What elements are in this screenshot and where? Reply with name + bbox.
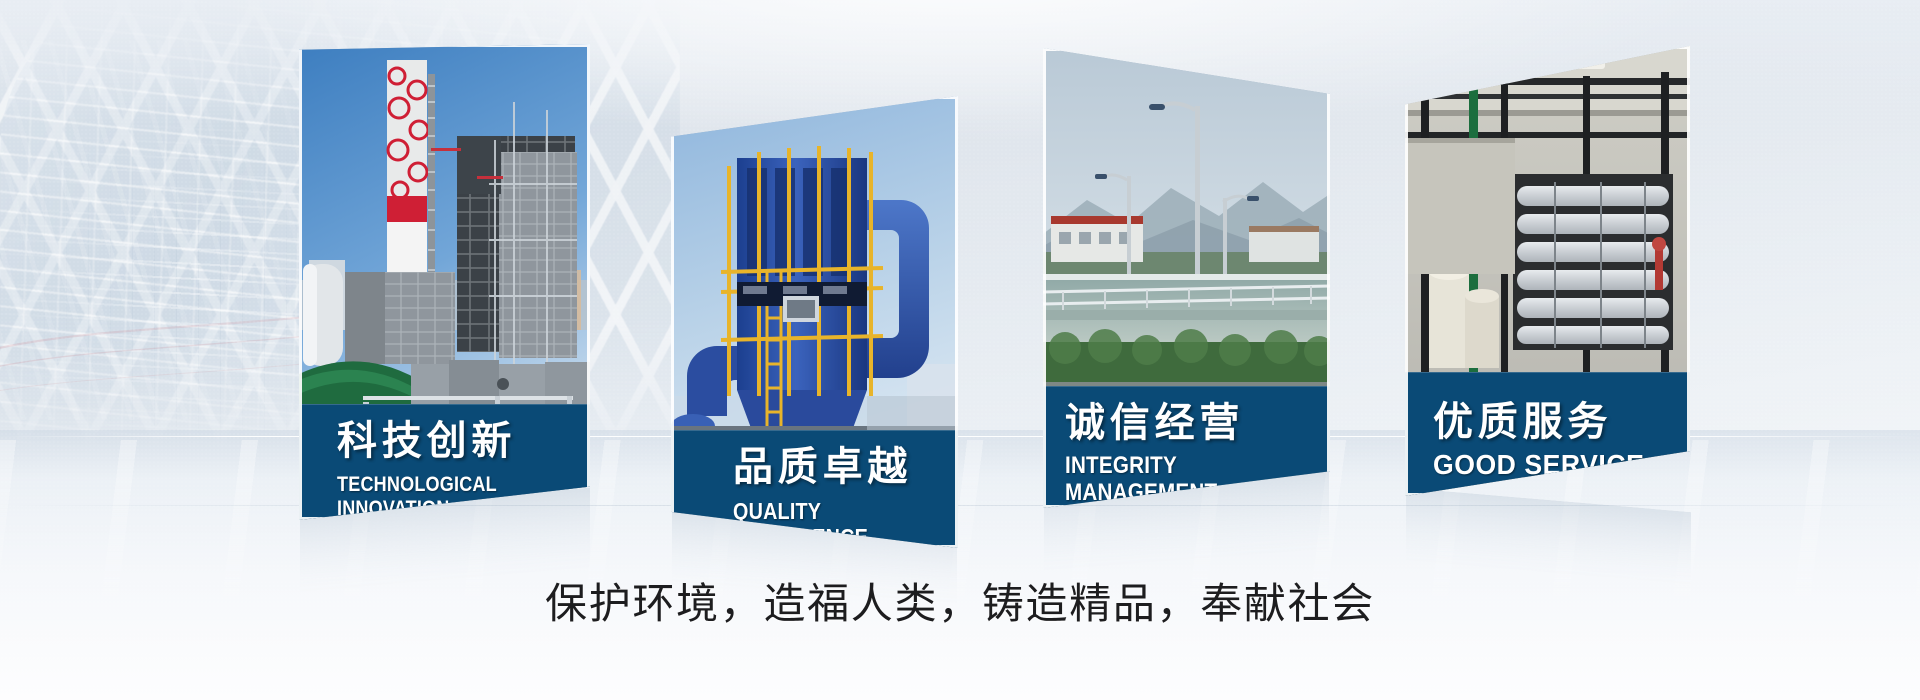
card-title-en-1: TECHNOLOGICAL INNOVATION [337,473,555,519]
card-title-en-3: INTEGRITY MANAGEMENT [1065,453,1293,506]
card-title-cn-2: 品质卓越 [733,447,958,487]
card-caption-plate-2: 品质卓越 QUALITY EXCELLENCE [671,430,958,548]
card-title-cn-4: 优质服务 [1433,402,1690,442]
feature-card-quality-excellence[interactable]: 品质卓越 QUALITY EXCELLENCE [671,96,958,548]
feature-card-integrity-management[interactable]: 诚信经营 INTEGRITY MANAGEMENT [1043,48,1330,508]
card-title-en-2: QUALITY EXCELLENCE [733,499,927,548]
card-caption-plate-4: 优质服务 GOOD SERVICE [1405,372,1690,496]
card-caption-plate-3: 诚信经营 INTEGRITY MANAGEMENT [1043,386,1330,508]
hero-banner: 科技创新 TECHNOLOGICAL INNOVATION [0,0,1920,700]
feature-card-good-service[interactable]: 优质服务 GOOD SERVICE [1405,46,1690,496]
card-title-en-4: GOOD SERVICE [1433,450,1677,481]
banner-tagline: 保护环境，造福人类，铸造精品，奉献社会 [0,570,1920,631]
card-title-cn-3: 诚信经营 [1065,403,1330,443]
card-title-cn-1: 科技创新 [337,421,590,461]
card-caption-plate-1: 科技创新 TECHNOLOGICAL INNOVATION [299,404,590,520]
feature-card-technological-innovation[interactable]: 科技创新 TECHNOLOGICAL INNOVATION [299,44,590,520]
